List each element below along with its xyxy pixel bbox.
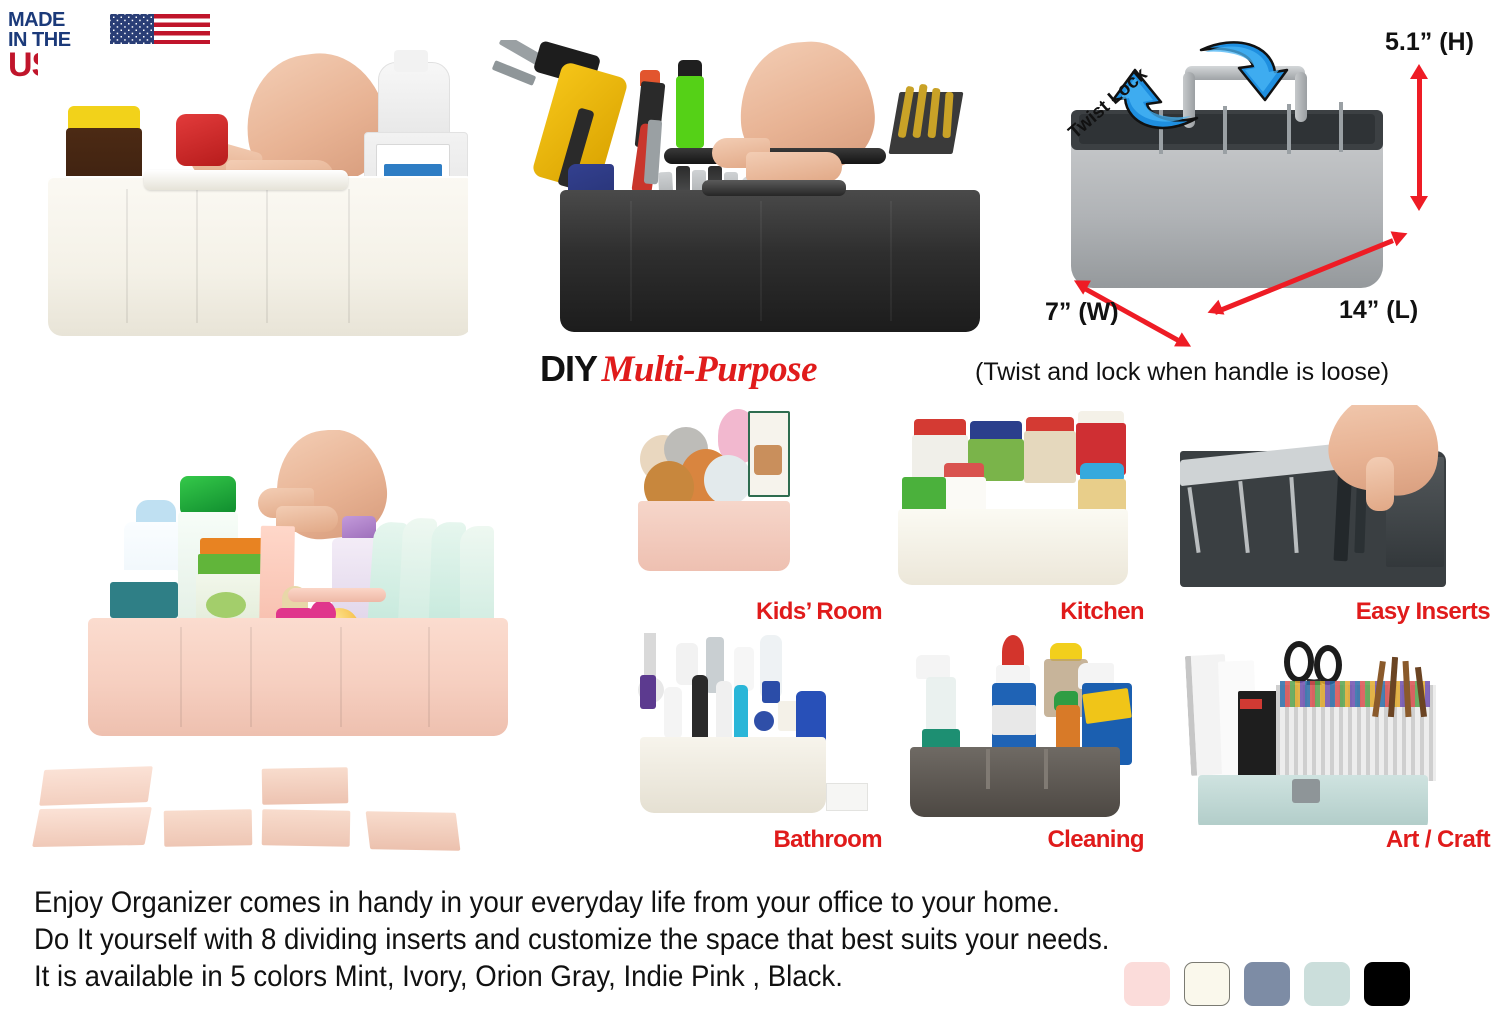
photo-baby-organizer [70, 430, 530, 740]
swatch-mint[interactable] [1304, 962, 1350, 1006]
badge-line-1: MADE [8, 10, 108, 30]
insert-6 [366, 811, 461, 851]
swatch-ivory[interactable] [1184, 962, 1230, 1006]
grid-cell-bathroom[interactable]: Bathroom [630, 633, 888, 855]
grid-label-art-craft: Art / Craft [1386, 826, 1490, 854]
grid-label-bathroom: Bathroom [773, 826, 882, 854]
tote-black [560, 190, 980, 332]
height-label: 5.1” (H) [1385, 28, 1474, 57]
grid-cell-caption: Art / Craft [1180, 825, 1496, 855]
photo-tools-organizer [490, 40, 990, 340]
insert-1 [39, 766, 153, 806]
twist-lock-note: (Twist and lock when handle is loose) [975, 358, 1389, 387]
tote-white [48, 176, 468, 336]
twist-lock-arrows-icon [1103, 28, 1303, 168]
flag-canton [110, 14, 154, 44]
grid-label-cleaning: Cleaning [1047, 826, 1144, 854]
footer-line-1: Enjoy Organizer comes in handy in your e… [34, 884, 1037, 921]
headline-multipurpose-label: Multi-Purpose [601, 349, 817, 390]
grid-label-kitchen: Kitchen [1060, 598, 1144, 626]
grid-cell-caption: Kids’ Room [630, 597, 888, 627]
insert-4 [262, 767, 349, 804]
width-label: 7” (W) [1045, 298, 1119, 327]
use-case-grid: Kids’ Room Kitchen [630, 405, 1496, 865]
insert-3 [164, 809, 253, 847]
grid-label-kids-room: Kids’ Room [756, 598, 882, 626]
grid-cell-kitchen[interactable]: Kitchen [892, 405, 1150, 627]
grid-cell-kids-room[interactable]: Kids’ Room [630, 405, 888, 627]
footer-line-3: It is available in 5 colors Mint, Ivory,… [34, 958, 1037, 995]
dimensions-diagram: Twist Lock 5.1” (H) 7” (W) 14” (L) [1055, 10, 1500, 345]
swatch-indie-pink[interactable] [1124, 962, 1170, 1006]
headline-diy: DIY Multi-Purpose [540, 348, 940, 392]
grid-cell-caption: Cleaning [892, 825, 1150, 855]
insert-2 [32, 807, 152, 847]
tote-pink [88, 618, 508, 736]
grid-cell-easy-inserts[interactable]: Easy Inserts [1180, 405, 1496, 627]
photo-medical-organizer [38, 48, 468, 343]
height-arrow [1417, 72, 1422, 204]
swatch-black[interactable] [1364, 962, 1410, 1006]
footer-line-2: Do It yourself with 8 dividing inserts a… [34, 921, 1037, 958]
footer-description: Enjoy Organizer comes in handy in your e… [34, 884, 1124, 995]
grid-cell-caption: Easy Inserts [1180, 597, 1496, 627]
infographic-canvas: MADE IN THE USA [0, 0, 1500, 1010]
photo-divider-inserts [24, 754, 524, 864]
grid-cell-art-craft[interactable]: Art / Craft [1180, 633, 1496, 855]
color-swatch-row [1124, 962, 1410, 1006]
grid-cell-cleaning[interactable]: Cleaning [892, 633, 1150, 855]
grid-cell-caption: Kitchen [892, 597, 1150, 627]
grid-cell-caption: Bathroom [630, 825, 888, 855]
headline-diy-label: DIY [540, 348, 597, 389]
insert-5 [262, 809, 351, 847]
swatch-orion-gray[interactable] [1244, 962, 1290, 1006]
grid-label-easy-inserts: Easy Inserts [1356, 598, 1490, 626]
length-label: 14” (L) [1339, 296, 1418, 325]
